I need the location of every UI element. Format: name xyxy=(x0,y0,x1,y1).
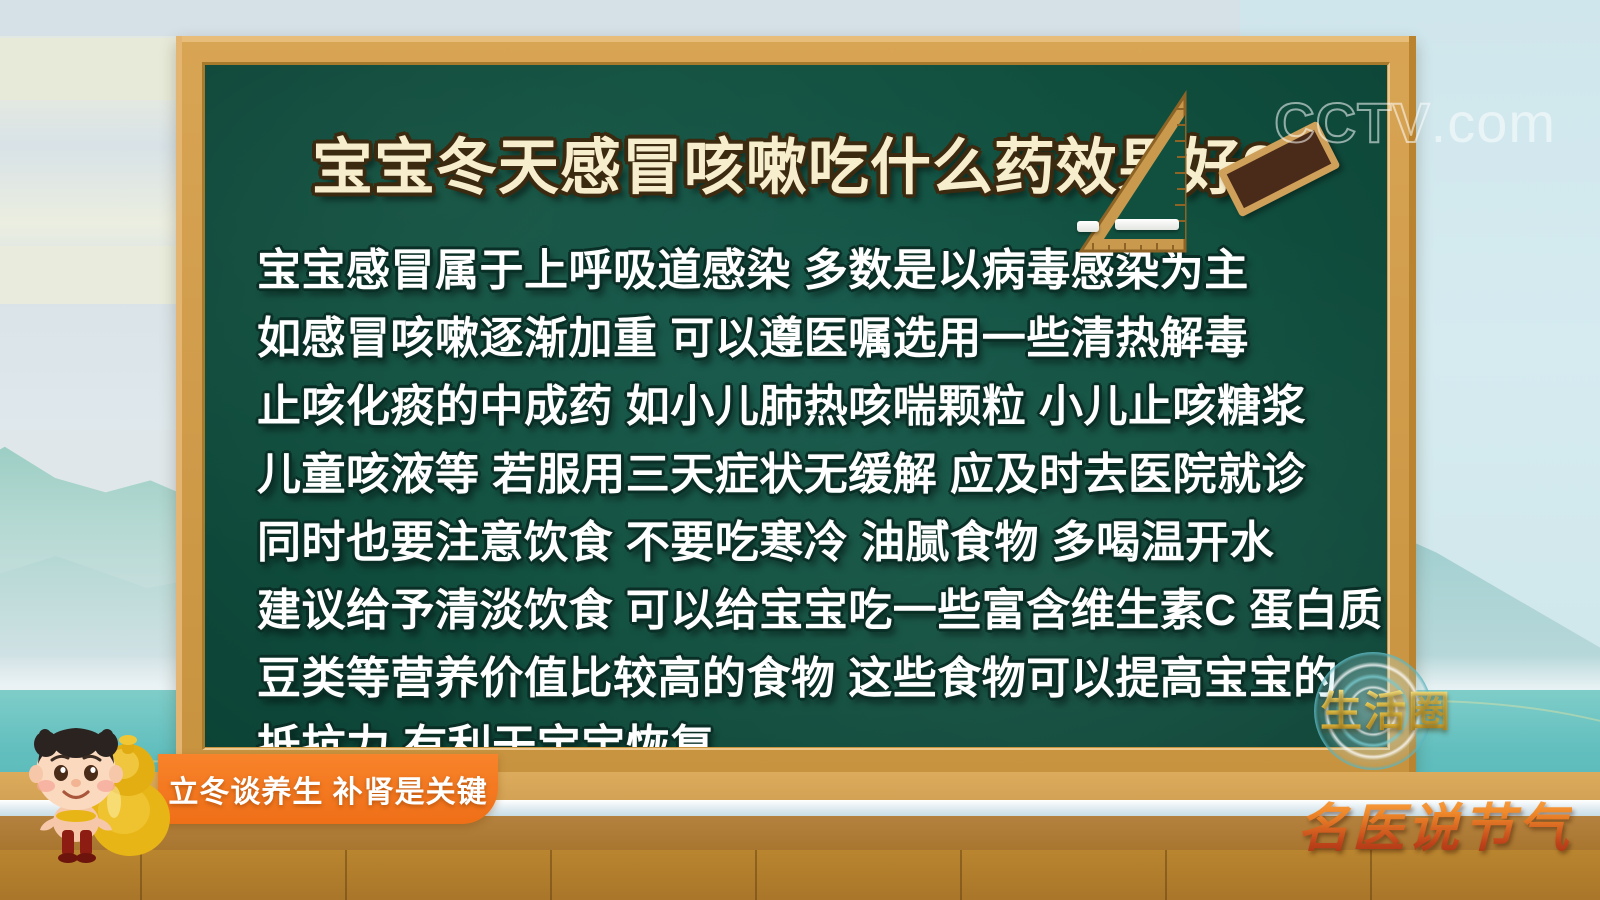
plank-seam xyxy=(1165,850,1167,900)
plank-seam xyxy=(345,850,347,900)
chalk-icon xyxy=(1077,221,1099,232)
cctv-watermark-suffix: .com xyxy=(1431,91,1556,154)
lower-third-banner: 立冬谈养生 补肾是关键 xyxy=(158,754,498,824)
triangle-ruler-icon xyxy=(1063,89,1223,259)
lower-third-text: 立冬谈养生 补肾是关键 xyxy=(168,767,487,811)
program-title: 名医说节气 xyxy=(1297,786,1572,861)
board-line: 豆类等营养价值比较高的食物 这些食物可以提高宝宝的 xyxy=(257,645,1351,713)
chalk-icon xyxy=(1115,219,1179,230)
board-text-block: 宝宝感冒属于上呼吸道感染 多数是以病毒感染为主 如感冒咳嗽逐渐加重 可以遵医嘱选… xyxy=(257,237,1351,747)
board-line: 如感冒咳嗽逐渐加重 可以遵医嘱选用一些清热解毒 xyxy=(257,305,1351,373)
board-line: 同时也要注意饮食 不要吃寒冷 油腻食物 多喝温开水 xyxy=(257,509,1351,577)
plank-seam xyxy=(755,850,757,900)
channel-logo-text: 生活圈 xyxy=(1320,678,1500,739)
cctv-watermark: CCTV.com xyxy=(1274,90,1556,155)
board-line: 止咳化痰的中成药 如小儿肺热咳喘颗粒 小儿止咳糖浆 xyxy=(257,373,1351,441)
blackboard: 宝宝冬天感冒咳嗽吃什么药效果好? 宝宝感冒属于上呼吸道感染 多数是以病毒感染为主… xyxy=(176,36,1416,776)
board-line: 儿童咳液等 若服用三天症状无缓解 应及时去医院就诊 xyxy=(257,441,1351,509)
frame-highlight-top xyxy=(176,36,1416,42)
board-line: 建议给予清淡饮食 可以给宝宝吃一些富含维生素C 蛋白质 xyxy=(257,577,1351,645)
cctv-watermark-main: CCTV xyxy=(1274,91,1430,154)
plank-seam xyxy=(550,850,552,900)
channel-logo: 生活圈 xyxy=(1302,650,1492,770)
blackboard-surface: 宝宝冬天感冒咳嗽吃什么药效果好? 宝宝感冒属于上呼吸道感染 多数是以病毒感染为主… xyxy=(205,65,1387,747)
frame-edge-left xyxy=(176,36,182,776)
calabash-boy-mascot-icon xyxy=(18,690,188,870)
board-line: 抵抗力 有利于宝宝恢复 xyxy=(257,713,1351,747)
plank-seam xyxy=(960,850,962,900)
